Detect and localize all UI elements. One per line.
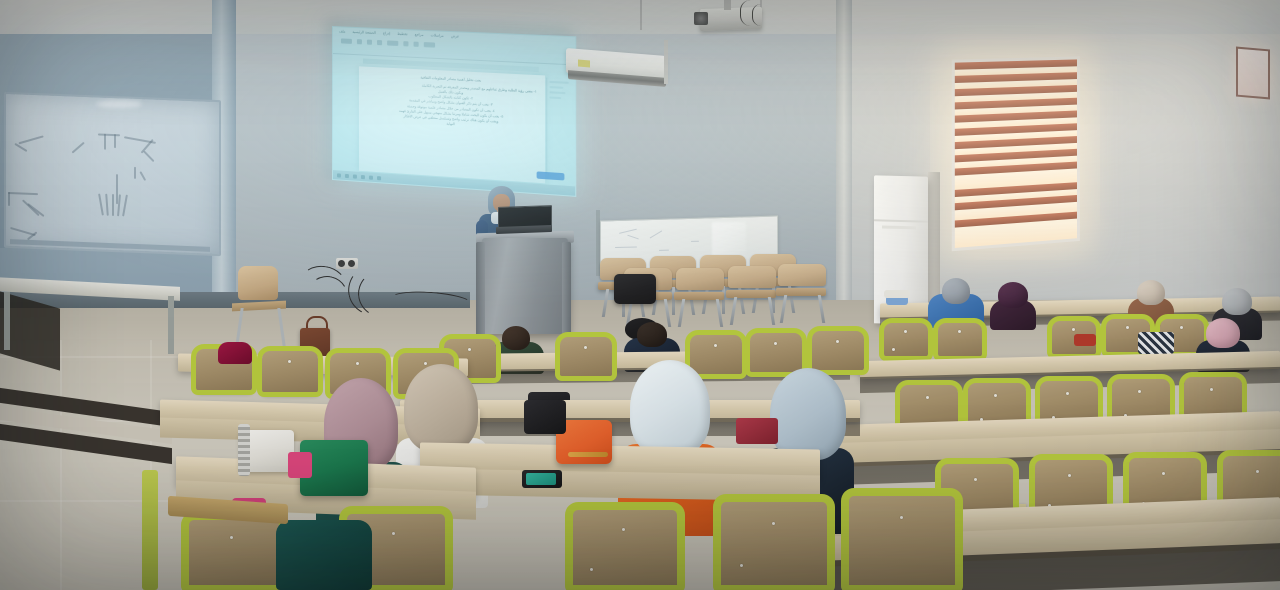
ribbon-tab[interactable]: ملف (339, 29, 345, 33)
lectern (482, 238, 568, 334)
floor-grout (60, 340, 62, 590)
bench-seat[interactable] (812, 330, 864, 372)
underline-icon[interactable] (377, 40, 382, 45)
side-table-leg (168, 296, 174, 354)
lectern-edge-left (476, 242, 485, 336)
black-bag-center[interactable] (524, 400, 566, 434)
wall-chair[interactable] (238, 266, 278, 300)
window-with-blinds (952, 56, 1080, 251)
side-table-leg (4, 292, 10, 350)
word-icon[interactable] (369, 175, 373, 179)
document-page: بحث تحليل أهمية مصادر المعلومات الثقافية… (359, 66, 545, 183)
student-foreground-teal (276, 520, 372, 590)
pink-item[interactable] (288, 452, 312, 478)
ribbon-toolbar (341, 38, 435, 47)
bench-seat[interactable] (938, 322, 982, 358)
student-maroon-hijab (990, 282, 1036, 326)
bench-leg (142, 470, 158, 590)
browser-icon[interactable] (361, 174, 365, 178)
ribbon-tab[interactable]: عرض (451, 34, 459, 38)
magenta-cap[interactable] (218, 342, 252, 364)
search-icon[interactable] (345, 173, 349, 177)
bench-seat[interactable] (570, 506, 680, 590)
projector-cable (752, 4, 775, 26)
ribbon-tab[interactable]: مراسلات (431, 33, 444, 38)
wall-light-fixture (1236, 47, 1270, 100)
bag-chain-strap (238, 424, 250, 476)
loose-chair[interactable] (728, 266, 776, 288)
ac-brand-label (578, 60, 590, 68)
ceiling-seam (640, 0, 642, 30)
red-item[interactable] (1074, 334, 1096, 346)
style-gallery[interactable] (424, 42, 435, 48)
align-controls[interactable] (387, 40, 398, 46)
black-backpack[interactable] (614, 274, 656, 304)
bold-icon[interactable] (357, 39, 362, 44)
bench-seat[interactable] (718, 498, 830, 590)
whiteboard-glare (96, 100, 142, 108)
explorer-icon[interactable] (353, 174, 357, 178)
bench-seat[interactable] (560, 336, 612, 378)
wall-column-right (836, 0, 852, 300)
list-icon[interactable] (403, 41, 408, 46)
ribbon-tab[interactable]: تخطيط (397, 32, 407, 36)
indent-icon[interactable] (414, 42, 419, 47)
bench-seat[interactable] (262, 350, 318, 394)
lectern-edge-right (562, 242, 571, 334)
projection-screen: ملف الصفحة الرئيسية إدراج تخطيط مراجع مر… (332, 26, 576, 197)
start-icon[interactable] (337, 173, 341, 177)
red-folder[interactable] (736, 418, 778, 444)
wall-power-socket[interactable] (336, 258, 358, 269)
loose-chair[interactable] (778, 264, 826, 286)
checkered-bag[interactable] (1138, 332, 1174, 354)
italic-icon[interactable] (367, 40, 372, 45)
ribbon-tab[interactable]: إدراج (383, 31, 390, 35)
bench-seat[interactable] (186, 516, 282, 590)
loose-chair[interactable] (676, 268, 724, 290)
smartphone-screen[interactable] (526, 473, 556, 485)
ac-pipe (664, 40, 668, 84)
handbag-chain-strap (568, 452, 608, 457)
document-sidebar (546, 78, 571, 175)
lecture-hall-photo: ملف الصفحة الرئيسية إدراج تخطيط مراجع مر… (0, 0, 1280, 590)
mail-icon[interactable] (377, 176, 381, 180)
left-whiteboard (4, 92, 221, 256)
ribbon-tab-row: ملف الصفحة الرئيسية إدراج تخطيط مراجع مر… (339, 29, 459, 38)
projector-lens (694, 12, 708, 25)
bench-seat[interactable] (884, 322, 928, 358)
ribbon-tab[interactable]: مراجع (415, 33, 424, 37)
bench-seat[interactable] (846, 492, 958, 590)
ribbon-tab[interactable]: الصفحة الرئيسية (352, 30, 375, 35)
font-name-control[interactable] (341, 38, 352, 44)
projector-mount (724, 0, 731, 10)
paper-sheet (884, 290, 910, 298)
